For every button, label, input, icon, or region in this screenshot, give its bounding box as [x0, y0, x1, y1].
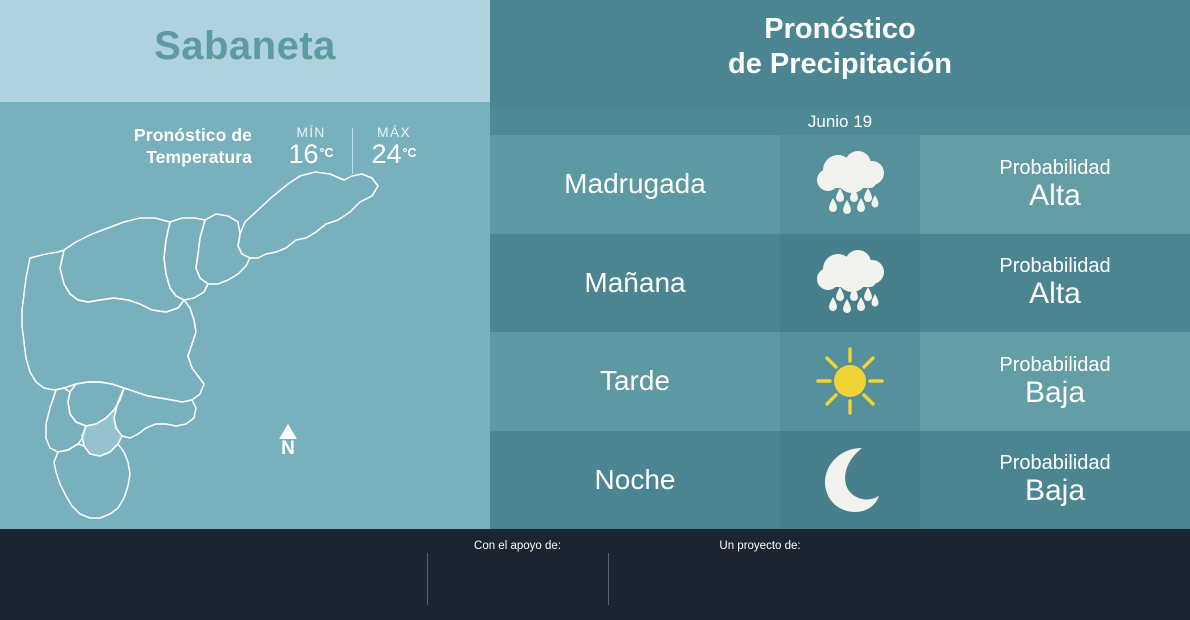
weather-icon-cell: [780, 135, 920, 234]
probability-value: Baja: [1025, 377, 1085, 409]
city-band: Sabaneta: [0, 0, 490, 102]
period-label: Madrugada: [490, 135, 780, 234]
probability-cell: Probabilidad Alta: [920, 135, 1190, 234]
probability-cell: Probabilidad Baja: [920, 332, 1190, 431]
max-unit: °C: [403, 146, 417, 160]
period-label: Noche: [490, 431, 780, 530]
period-label: Tarde: [490, 332, 780, 431]
min-unit: °C: [320, 146, 334, 160]
max-label: MÁX: [357, 124, 431, 140]
forecast-row: Tarde: [490, 332, 1190, 431]
probability-label: Probabilidad: [999, 158, 1110, 179]
compass-label: N: [274, 439, 302, 458]
weather-infographic: Sabaneta Pronóstico de Temperatura MÍN 1…: [0, 0, 1190, 620]
temperature-title-line1: Pronóstico de: [134, 125, 252, 145]
footer-divider: [608, 553, 609, 605]
rain-cloud-icon: [808, 148, 892, 220]
map-panel: Pronóstico de Temperatura MÍN 16°C MÁX 2…: [0, 102, 490, 529]
precipitation-title-line1: Pronóstico: [764, 13, 915, 45]
rain-cloud-icon: [808, 247, 892, 319]
forecast-row: Madrugada: [490, 135, 1190, 234]
left-panel: Sabaneta Pronóstico de Temperatura MÍN 1…: [0, 0, 490, 529]
forecast-date: Junio 19: [490, 108, 1190, 138]
probability-value: Alta: [1029, 180, 1081, 212]
precipitation-header: Pronóstico de Precipitación: [490, 0, 1190, 105]
probability-label: Probabilidad: [999, 453, 1110, 474]
compass: N: [274, 424, 302, 458]
probability-label: Probabilidad: [999, 256, 1110, 277]
forecast-row: Mañana: [490, 234, 1190, 333]
probability-label: Probabilidad: [999, 355, 1110, 376]
aburra-valley-map: [0, 162, 490, 522]
probability-value: Alta: [1029, 278, 1081, 310]
weather-icon-cell: [780, 431, 920, 530]
probability-cell: Probabilidad Baja: [920, 431, 1190, 530]
footer: Con el apoyo de: Un proyecto de: SIATA: [0, 529, 1190, 620]
precipitation-panel: Pronóstico de Precipitación Junio 19 Mad…: [490, 0, 1190, 529]
weather-icon-cell: [780, 332, 920, 431]
support-label: Con el apoyo de:: [455, 540, 580, 552]
sun-icon: [810, 343, 890, 419]
footer-divider: [427, 553, 428, 605]
project-label: Un proyecto de:: [700, 540, 820, 552]
page-title: Sabaneta: [0, 24, 490, 69]
probability-value: Baja: [1025, 475, 1085, 507]
probability-cell: Probabilidad Alta: [920, 234, 1190, 333]
moon-icon: [817, 444, 883, 516]
min-label: MÍN: [274, 124, 348, 140]
precipitation-title-line2: de Precipitación: [728, 48, 952, 80]
period-label: Mañana: [490, 234, 780, 333]
map-svg: [0, 162, 490, 522]
precipitation-title: Pronóstico de Precipitación: [490, 12, 1190, 83]
forecast-rows: Madrugada: [490, 135, 1190, 529]
forecast-row: Noche Probabilidad Baja: [490, 431, 1190, 530]
weather-icon-cell: [780, 234, 920, 333]
